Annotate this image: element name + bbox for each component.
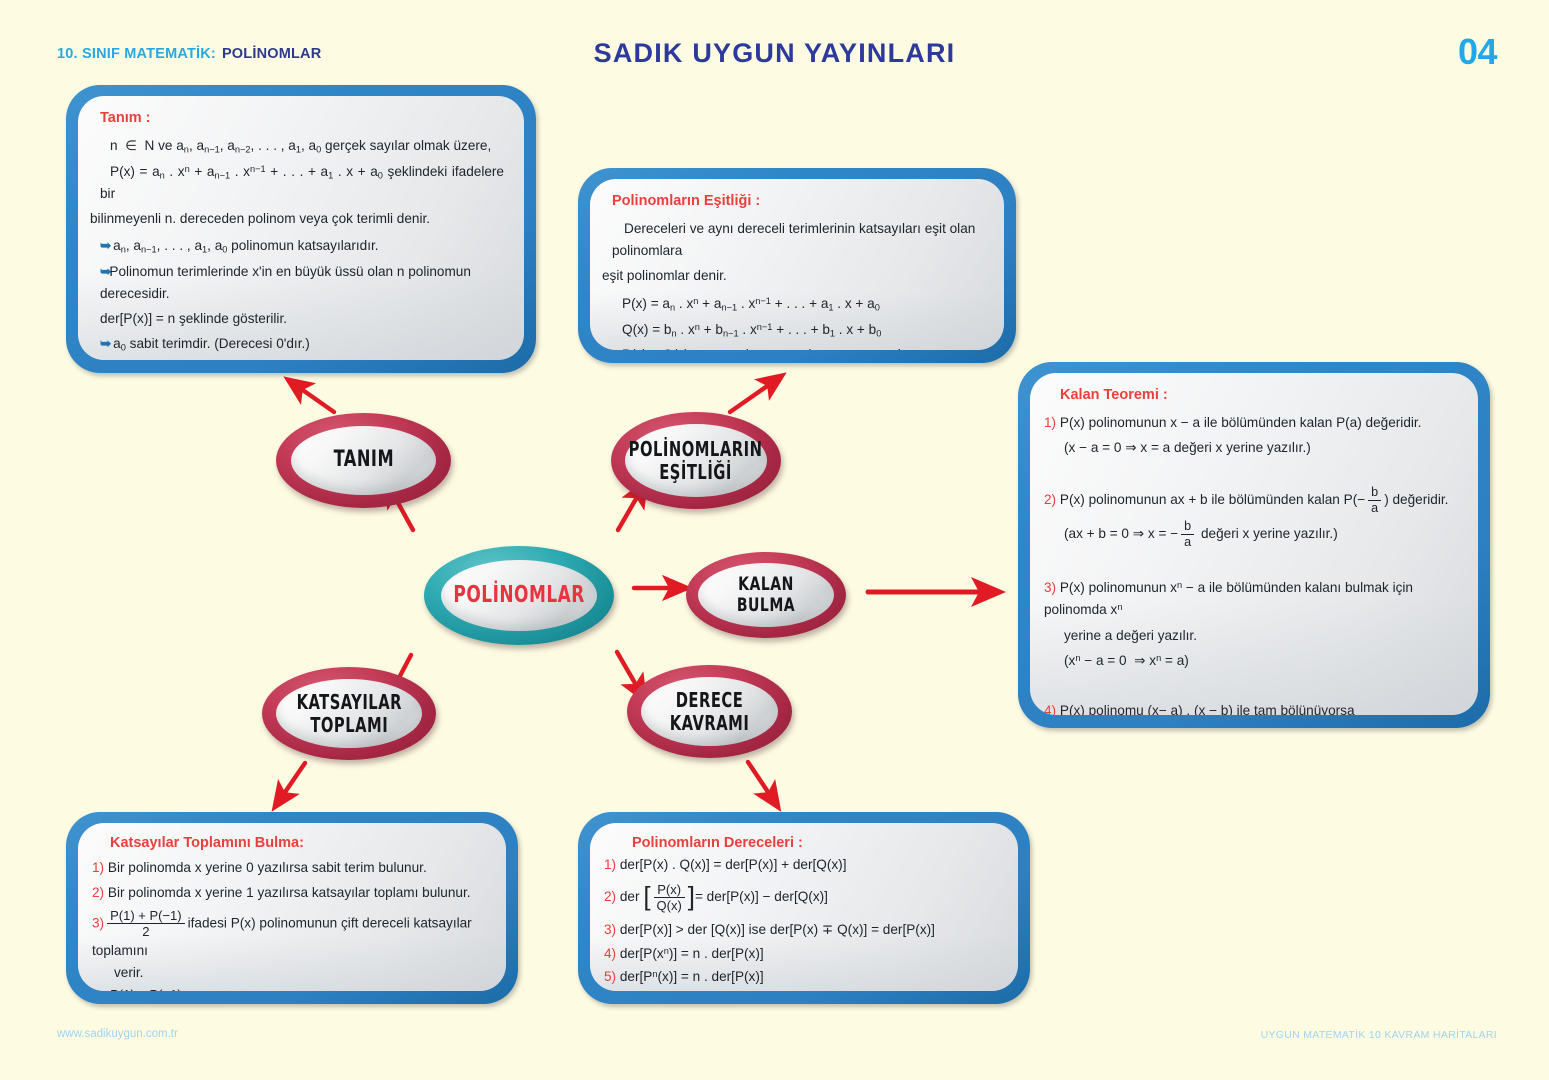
concept-map-page: 10. SINIF MATEMATİK:POLİNOMLAR SADIK UYG… — [0, 0, 1549, 1080]
bullet-arrow-icon: ➥ — [100, 336, 109, 351]
derece-item-1-num: 1) — [604, 857, 616, 872]
arrow-derece-to-panel — [748, 762, 772, 798]
katsayilar-item-4: 4)P(1) − P(−1)2ifadesi P(x) polinomunun … — [92, 987, 486, 991]
panel-dereceler-title: Polinomların Dereceleri : — [632, 835, 998, 851]
kalan-item-4-num: 4) — [1044, 703, 1056, 715]
node-face: POLİNOMLAR — [441, 560, 597, 631]
node-polinomlar-center[interactable]: POLİNOMLAR — [424, 546, 614, 645]
katsayilar-item-1-text: Bir polinomda x yerine 0 yazılırsa sabit… — [108, 860, 427, 875]
node-tanim-label: TANIM — [333, 448, 393, 473]
tanim-bullet-2-cont: der[P(x)] = n şeklinde gösterilir. — [100, 308, 504, 330]
footer-series: UYGUN MATEMATİK 10 KAVRAM HARİTALARI — [1261, 1029, 1497, 1041]
katsayilar-item-2-text: Bir polinomda x yerine 1 yazılırsa katsa… — [108, 885, 471, 900]
panel-polinomlarin-esitligi: Polinomların Eşitliği : Dereceleri ve ay… — [578, 168, 1016, 363]
panel-tanim: Tanım : n ∈ N ve an, an−1, an−2, . . . ,… — [66, 85, 536, 373]
panel-tanim-title: Tanım : — [100, 110, 504, 126]
tanim-bullet-1: ➥ an, an−1, . . . , a1, a0 polinomun kat… — [100, 235, 504, 258]
katsayilar-item-3: 3)P(1) + P(−1)2ifadesi P(x) polinomunun … — [92, 908, 486, 984]
derece-item-2-text: = der[P(x)] − der[Q(x)] — [695, 889, 828, 904]
bullet-arrow-icon: ➥ — [100, 264, 109, 279]
node-katsayilar-line2: TOPLAMI — [310, 713, 388, 737]
derece-item-1-text: der[P(x) . Q(x)] = der[P(x)] + der[Q(x)] — [620, 857, 847, 872]
panel-esitlik-title: Polinomların Eşitliği : — [612, 193, 984, 209]
katsayilar-item-1-num: 1) — [92, 860, 104, 875]
node-tanim[interactable]: TANIM — [276, 413, 451, 508]
kalan-item-3: 3) P(x) polinomunun xn − a ile bölümünde… — [1044, 577, 1458, 621]
kalan-item-1-sub: (x − a = 0 ⇒ x = a değeri x yerine yazıl… — [1064, 437, 1458, 459]
derece-item-3-num: 3) — [604, 922, 616, 937]
node-face: KALAN BULMA — [698, 563, 834, 627]
esitlik-line-2: eşit polinomlar denir. — [602, 265, 984, 287]
kalan-item-3-text2: yerine a değeri yazılır. — [1064, 625, 1458, 647]
tanim-line-3: bilinmeyenli n. dereceden polinom veya ç… — [90, 208, 504, 230]
derece-item-5-num: 5) — [604, 969, 616, 984]
derece-item-2: 2) der [P(x)Q(x)]= der[P(x)] − der[Q(x)] — [604, 878, 998, 917]
esitlik-eq-1: P(x) = an . xn + an−1 . xn−1 + . . . + a… — [612, 293, 984, 316]
panel-esitlik-body: Dereceleri ve aynı dereceli terimlerinin… — [612, 218, 984, 350]
derece-item-2-der: der — [620, 889, 640, 904]
panel-katsayilar-body: 1) Bir polinomda x yerine 0 yazılırsa sa… — [92, 857, 486, 991]
node-esitligi-label: POLİNOMLARIN EŞİTLİĞİ — [629, 438, 763, 483]
node-katsayilar-toplami[interactable]: KATSAYILAR TOPLAMI — [262, 667, 436, 760]
node-derece-line2: KAVRAMI — [670, 711, 750, 735]
node-derece-kavrami[interactable]: DERECE KAVRAMI — [627, 665, 792, 758]
esitlik-line-1: Dereceleri ve aynı dereceli terimlerinin… — [612, 218, 984, 262]
derece-item-6: 6) der[P(Q(x))] = der[P(x)] . der[Q(x)] — [604, 990, 998, 991]
kalan-item-2-text-b: ) değeridir. — [1384, 492, 1448, 507]
derece-item-3: 3) der[P(x)] > der [Q(x)] ise der[P(x) ∓… — [604, 920, 998, 940]
node-face: DERECE KAVRAMI — [641, 677, 778, 746]
node-center-label: POLİNOMLAR — [453, 583, 584, 609]
node-derece-line1: DERECE — [676, 688, 744, 712]
derece-item-2-num: 2) — [604, 889, 616, 904]
derece-item-4: 4) der[P(xn)] = n . der[P(x)] — [604, 944, 998, 964]
kalan-item-2-num: 2) — [1044, 492, 1056, 507]
derece-item-1: 1) der[P(x) . Q(x)] = der[P(x)] + der[Q(… — [604, 855, 998, 875]
kalan-item-4-text: P(x) polinomu (x− a) . (x − b) ile tam b… — [1060, 703, 1355, 715]
page-title: SADIK UYGUN YAYINLARI — [0, 38, 1549, 69]
arrow-tanim-to-panel — [297, 386, 334, 412]
bullet-arrow-icon: ➥ — [100, 238, 109, 253]
fraction-p-over-q: P(x)Q(x) — [654, 882, 685, 914]
katsayilar-item-2: 2) Bir polinomda x yerine 1 yazılırsa ka… — [92, 882, 486, 904]
fraction-b-over-a: ba — [1181, 519, 1194, 550]
fraction-b-over-a: ba — [1368, 485, 1381, 516]
arrow-center-to-esitligi — [618, 492, 640, 530]
arrow-esitligi-to-panel — [730, 382, 773, 412]
node-kalan-label: KALAN BULMA — [710, 574, 822, 617]
panel-katsayilar-toplami: Katsayılar Toplamını Bulma: 1) Bir polin… — [66, 812, 518, 1004]
kalan-item-4: 4) P(x) polinomu (x− a) . (x − b) ile ta… — [1044, 700, 1458, 715]
footer-website[interactable]: www.sadikuygun.com.tr — [57, 1028, 178, 1040]
node-katsayilar-label: KATSAYILAR TOPLAMI — [296, 691, 401, 736]
kalan-item-3-sub: (xn − a = 0 ⇒ xn = a) — [1064, 650, 1458, 672]
panel-kalan-title: Kalan Teoremi : — [1060, 387, 1458, 403]
tanim-line-2: P(x) = an . xn + an−1 . xn−1 + . . . + a… — [100, 161, 504, 206]
tanim-bullet-3: ➥ a0 sabit terimdir. (Derecesi 0'dır.) — [100, 333, 504, 356]
bracket-right-icon: ] — [688, 878, 695, 917]
node-esitligi-line1: POLİNOMLARIN — [629, 437, 763, 461]
node-esitligi-line2: EŞİTLİĞİ — [660, 460, 733, 484]
kalan-item-1-text: P(x) polinomunun x − a ile bölümünden ka… — [1060, 415, 1422, 430]
node-face: TANIM — [291, 426, 436, 495]
panel-kalan-body: 1) P(x) polinomunun x − a ile bölümünden… — [1044, 412, 1458, 715]
panel-kalan-teoremi: Kalan Teoremi : 1) P(x) polinomunun x − … — [1018, 362, 1490, 728]
katsayilar-item-3-num: 3) — [92, 915, 104, 930]
katsayilar-item-1: 1) Bir polinomda x yerine 0 yazılırsa sa… — [92, 857, 486, 879]
kalan-item-1: 1) P(x) polinomunun x − a ile bölümünden… — [1044, 412, 1458, 434]
esitlik-eq-2: Q(x) = bn . xn + bn−1 . xn−1 + . . . + b… — [612, 319, 984, 342]
arrow-center-to-derece — [617, 652, 639, 690]
derece-item-3-text: der[P(x)] > der [Q(x)] ise der[P(x) ∓ Q(… — [620, 922, 935, 937]
katsayilar-item-3-cont: verir. — [114, 962, 143, 984]
katsayilar-item-2-num: 2) — [92, 885, 104, 900]
bracket-left-icon: [ — [643, 878, 650, 917]
derece-item-4-num: 4) — [604, 946, 616, 961]
derece-item-5: 5) der[Pn(x)] = n . der[P(x)] — [604, 967, 998, 987]
node-polinomlarin-esitligi[interactable]: POLİNOMLARIN EŞİTLİĞİ — [611, 412, 781, 509]
kalan-item-3-num: 3) — [1044, 580, 1056, 595]
kalan-item-1-num: 1) — [1044, 415, 1056, 430]
node-face: POLİNOMLARIN EŞİTLİĞİ — [625, 424, 767, 497]
arrow-katsayilar-to-panel — [281, 763, 305, 798]
node-derece-label: DERECE KAVRAMI — [670, 689, 750, 734]
kalan-item-2-text-a: P(x) polinomunun ax + b ile bölümünden k… — [1060, 492, 1365, 507]
node-face: KATSAYILAR TOPLAMI — [276, 679, 422, 748]
fraction-even-coeff: P(1) + P(−1)2 — [107, 908, 185, 940]
panel-tanim-body: n ∈ N ve an, an−1, an−2, . . . , a1, a0 … — [100, 135, 504, 360]
tanim-line-1: n ∈ N ve an, an−1, an−2, . . . , a1, a0 … — [100, 135, 504, 158]
kalan-item-2-sub: (ax + b = 0 ⇒ x = −ba değeri x yerine ya… — [1064, 519, 1458, 550]
node-katsayilar-line1: KATSAYILAR — [296, 690, 401, 714]
page-number: 04 — [1458, 31, 1497, 73]
tanim-bullet-2: ➥Polinomun terimlerinde x'in en büyük üs… — [100, 261, 504, 305]
panel-katsayilar-title: Katsayılar Toplamını Bulma: — [110, 835, 486, 851]
kalan-item-2: 2) P(x) polinomunun ax + b ile bölümünde… — [1044, 485, 1458, 516]
panel-dereceler-body: 1) der[P(x) . Q(x)] = der[P(x)] + der[Q(… — [604, 855, 998, 991]
fraction-odd-coeff: P(1) − P(−1)2 — [107, 987, 185, 991]
tanim-bullet-4: ➥En büyük dereceli x'in katsayısı olan a… — [100, 358, 504, 360]
node-kalan-bulma[interactable]: KALAN BULMA — [686, 552, 846, 638]
esitlik-eq-3: P(x) = Q(x) ⇔ an = bn , an−1 = bn−1 , . … — [612, 344, 984, 350]
panel-polinomlarin-dereceleri: Polinomların Dereceleri : 1) der[P(x) . … — [578, 812, 1030, 1004]
